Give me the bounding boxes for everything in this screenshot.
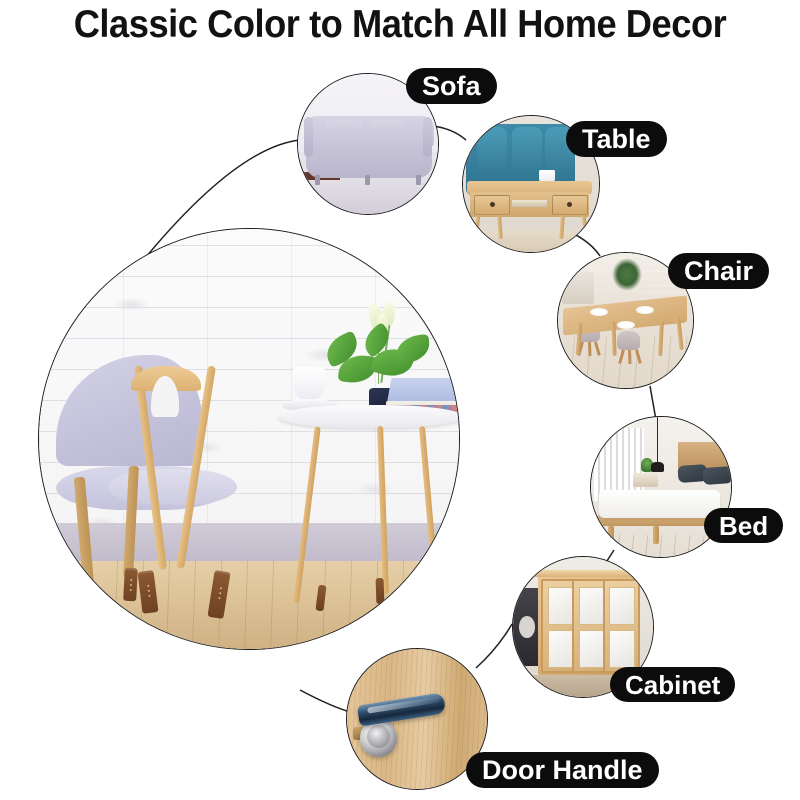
table-leg-middle bbox=[377, 426, 389, 594]
cabinet-top-rail bbox=[535, 570, 641, 577]
teal-cushion-left bbox=[477, 127, 507, 173]
table-floor bbox=[463, 230, 599, 252]
label-door-handle[interactable]: Door Handle bbox=[466, 752, 659, 788]
cabinet-pane-1b bbox=[548, 630, 574, 668]
teal-cushion-middle bbox=[512, 127, 542, 173]
plate-2 bbox=[636, 306, 654, 314]
chair-object bbox=[56, 355, 291, 632]
sofa-arm-left bbox=[304, 117, 314, 156]
cabinet-pane-2b bbox=[579, 630, 605, 668]
connector-chair-to-bed bbox=[650, 386, 656, 420]
chair-sideboard bbox=[562, 272, 594, 304]
sofa-arm-right bbox=[423, 117, 433, 156]
chair-leg-cap-front-right bbox=[207, 570, 230, 619]
sofa-leg-left bbox=[315, 175, 320, 185]
dining-chair-seat-right bbox=[617, 331, 640, 350]
table-leg-cap-middle bbox=[376, 578, 385, 604]
infographic-canvas: Classic Color to Match All Home Decor bbox=[0, 0, 800, 800]
table-leg-right bbox=[419, 426, 439, 589]
sofa-leg-middle bbox=[365, 175, 370, 185]
chair-leg-cap-front-left bbox=[138, 570, 158, 613]
table-leg-cap-left bbox=[316, 584, 327, 611]
drawer-knob-left bbox=[490, 202, 495, 207]
a-frame-right-rail bbox=[176, 365, 216, 569]
chair-leg-r2 bbox=[628, 350, 631, 364]
table-top bbox=[278, 405, 460, 428]
main-product-photo[interactable] bbox=[38, 228, 460, 650]
chair-leg-cap-rear-right bbox=[123, 568, 137, 602]
coffee-cup bbox=[293, 367, 324, 401]
sofa-floor bbox=[298, 180, 438, 214]
dining-chair-right bbox=[617, 331, 640, 363]
sofa-leg-right bbox=[416, 175, 421, 185]
table-leg-cap-right bbox=[418, 573, 428, 600]
label-bed[interactable]: Bed bbox=[704, 508, 783, 543]
chair-leg-l2 bbox=[588, 342, 591, 356]
plant-leaf-4 bbox=[394, 334, 432, 364]
chair-leg-r1 bbox=[618, 350, 624, 364]
main-photo-scene bbox=[39, 229, 459, 649]
chair-a-frame bbox=[126, 366, 220, 571]
chair-leg-l3 bbox=[594, 342, 600, 356]
sofa-seat bbox=[306, 130, 432, 178]
coffee-table-shelf bbox=[512, 200, 547, 207]
plate-3 bbox=[617, 321, 635, 329]
cabinet-pane-3b bbox=[609, 630, 635, 668]
bed-leg-middle bbox=[653, 526, 659, 544]
cabinet-door-3 bbox=[603, 579, 641, 673]
cabinet-pane-1a bbox=[548, 587, 574, 625]
cabinet-pane-2a bbox=[579, 587, 605, 625]
pendant-lamp bbox=[651, 462, 664, 472]
nightstand bbox=[633, 473, 658, 487]
table-leg-left bbox=[293, 426, 321, 602]
table-object bbox=[278, 405, 460, 632]
label-sofa[interactable]: Sofa bbox=[406, 68, 497, 104]
label-table[interactable]: Table bbox=[566, 121, 667, 157]
cabinet-pane-3a bbox=[609, 587, 635, 625]
bed-leg-left bbox=[608, 526, 614, 544]
chair-room-plant bbox=[612, 258, 642, 290]
mattress bbox=[599, 490, 719, 518]
drawer-knob-right bbox=[567, 202, 572, 207]
label-chair[interactable]: Chair bbox=[668, 253, 769, 289]
pillow-right bbox=[702, 466, 732, 485]
connector-handle-to-main bbox=[300, 690, 350, 712]
label-cabinet[interactable]: Cabinet bbox=[610, 667, 735, 702]
lamp-cord bbox=[657, 417, 659, 465]
chair-leg-r3 bbox=[635, 350, 641, 364]
